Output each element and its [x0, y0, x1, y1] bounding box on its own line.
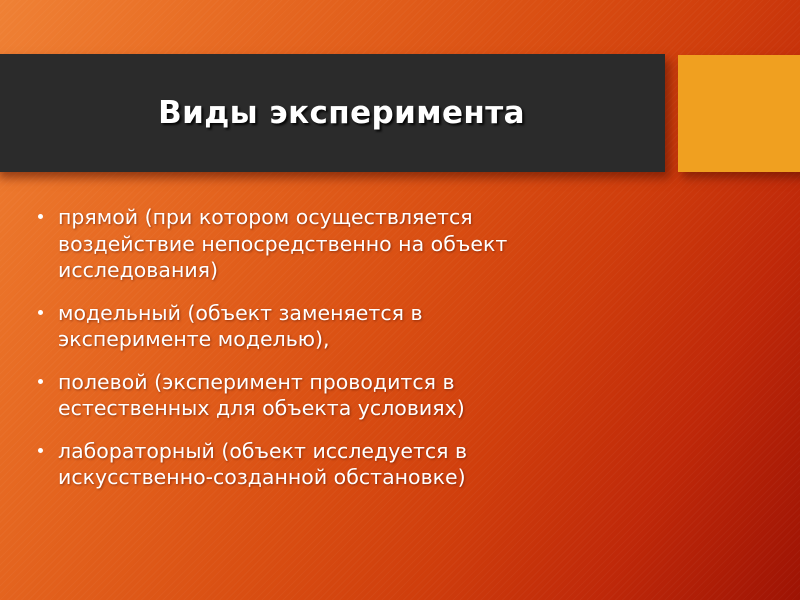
bullet-dot-icon	[38, 214, 43, 219]
bullet-dot-icon	[38, 379, 43, 384]
slide-title-bar: Виды эксперимента	[0, 54, 665, 172]
bullet-list: прямой (при котором осуществляется возде…	[30, 204, 578, 491]
list-item-label: полевой (эксперимент проводится в естест…	[58, 370, 465, 421]
list-item-label: прямой (при котором осуществляется возде…	[58, 205, 507, 282]
bullet-dot-icon	[38, 310, 43, 315]
list-item: модельный (объект заменяется в экспериме…	[30, 300, 578, 353]
presentation-slide: Виды эксперимента прямой (при котором ос…	[0, 0, 800, 600]
list-item: лабораторный (объект исследуется в искус…	[30, 438, 578, 491]
decorative-accent-block	[678, 55, 800, 172]
list-item-label: модельный (объект заменяется в экспериме…	[58, 301, 423, 352]
list-item: прямой (при котором осуществляется возде…	[30, 204, 578, 284]
list-item-label: лабораторный (объект исследуется в искус…	[58, 439, 467, 490]
bullet-dot-icon	[38, 448, 43, 453]
list-item: полевой (эксперимент проводится в естест…	[30, 369, 578, 422]
slide-title: Виды эксперимента	[134, 95, 525, 131]
